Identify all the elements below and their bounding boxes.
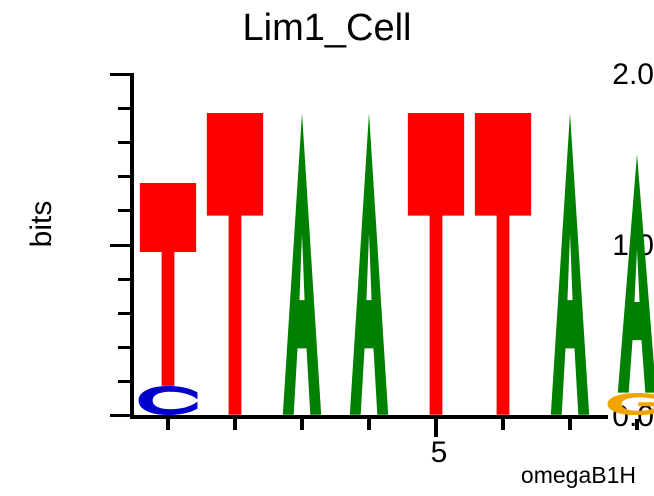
logo-letter-a-pos-8 (605, 154, 654, 393)
logo-stack-position-4 (337, 113, 401, 415)
logo-stack-position-1 (136, 183, 200, 415)
logo-stack-position-3 (270, 113, 334, 415)
logo-letter-t-pos-6 (471, 113, 535, 415)
logo-letter-a-pos-4 (337, 113, 401, 415)
y-tick-1.6 (118, 141, 134, 144)
y-tick-0.2 (118, 380, 134, 383)
logo-letter-a-pos-3 (270, 113, 334, 415)
y-tick-0.4 (118, 346, 134, 349)
logo-letter-t-pos-2 (203, 113, 267, 415)
y-tick-0.0 (110, 414, 134, 417)
y-tick-1.4 (118, 175, 134, 178)
y-tick-0.6 (118, 312, 134, 315)
y-tick-2.0 (110, 73, 134, 76)
logo-stack-position-8 (605, 154, 654, 415)
logo-stacks (134, 74, 606, 415)
y-tick-1.2 (118, 209, 134, 212)
logo-letter-a-pos-7 (538, 113, 602, 415)
logo-letter-t-pos-5 (404, 113, 468, 415)
page-title: Lim1_Cell (0, 4, 654, 52)
x-tick-1 (166, 419, 170, 430)
logo-stack-position-7 (538, 113, 602, 415)
y-tick-1.0 (110, 244, 134, 247)
logo-letter-g-pos-8 (605, 393, 654, 415)
y-axis-label: bits (26, 164, 58, 284)
x-tick-label-5: 5 (409, 437, 469, 469)
x-tick-4 (367, 419, 371, 430)
footer-caption: omegaB1H (521, 462, 636, 488)
logo-stack-position-6 (471, 113, 535, 415)
x-tick-3 (300, 419, 304, 430)
x-tick-5 (434, 419, 438, 437)
logo-stack-position-5 (404, 113, 468, 415)
logo-letter-c-pos-1 (136, 386, 200, 415)
sequence-logo-chart: Lim1_Cell bits 2.0 1.0 0.0 5 omegaB1H (0, 0, 654, 496)
y-tick-1.8 (118, 107, 134, 110)
logo-letter-t-pos-1 (136, 183, 200, 386)
x-tick-2 (233, 419, 237, 430)
y-tick-0.8 (118, 278, 134, 281)
x-tick-6 (501, 419, 505, 430)
logo-stack-position-2 (203, 113, 267, 415)
